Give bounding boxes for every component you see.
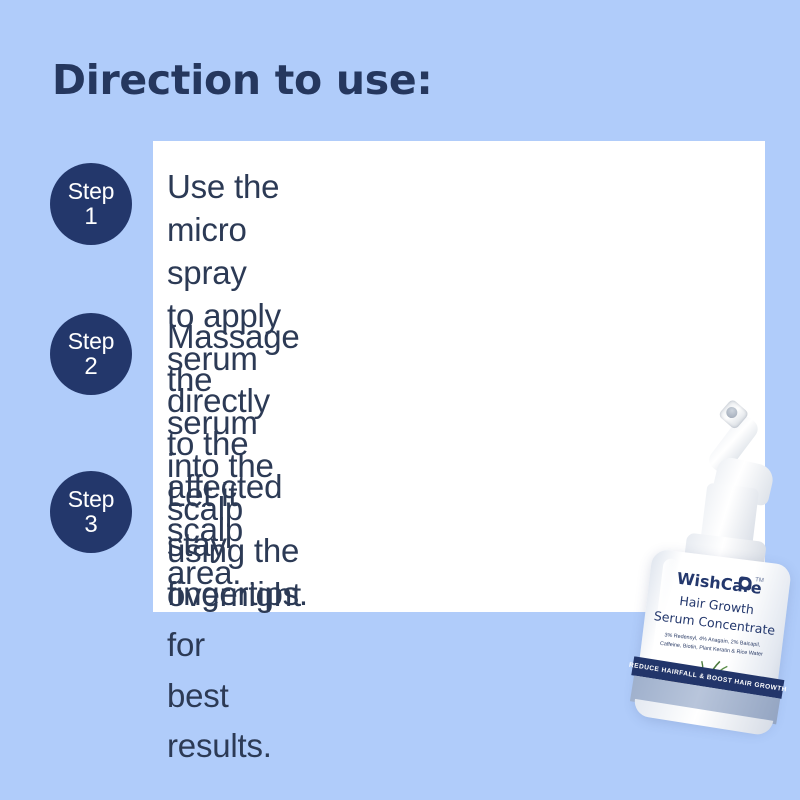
page-title: Direction to use: xyxy=(52,56,432,104)
step-badge-word: Step xyxy=(68,488,115,511)
step-badge-number: 1 xyxy=(84,205,97,229)
step-badge-2: Step 2 xyxy=(50,313,132,395)
step-badge-number: 3 xyxy=(84,513,97,537)
trademark-mark: TM xyxy=(755,577,764,584)
step-badge-number: 2 xyxy=(84,355,97,379)
step-badge-3: Step 3 xyxy=(50,471,132,553)
step-badge-word: Step xyxy=(68,180,115,203)
step-badge-word: Step xyxy=(68,330,115,353)
step-text-3: Let it stay overnight for best results. xyxy=(167,470,301,771)
wishcare-logo-icon xyxy=(738,576,752,590)
step-badge-1: Step 1 xyxy=(50,163,132,245)
poster-canvas: Direction to use: Step 1 Use the micro s… xyxy=(0,0,800,800)
